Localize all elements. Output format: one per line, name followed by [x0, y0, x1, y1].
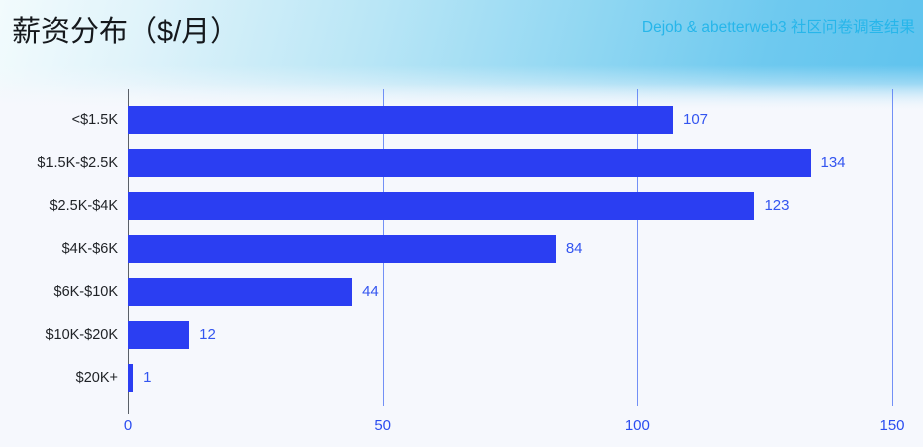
salary-distribution-chart: 薪资分布（$/月） Dejob & abetterweb3 社区问卷调查结果 <…	[0, 0, 923, 447]
bar[interactable]	[128, 364, 133, 392]
bar-value-label: 84	[566, 240, 583, 258]
category-label: $2.5K-$4K	[49, 197, 118, 215]
bar-value-label: 134	[821, 154, 846, 172]
bar-value-label: 1	[143, 369, 151, 387]
xtick-label-0: 0	[124, 417, 132, 435]
bar-value-label: 123	[764, 197, 789, 215]
bar[interactable]	[128, 149, 811, 177]
bar-value-label: 12	[199, 326, 216, 344]
category-axis-labels: <$1.5K$1.5K-$2.5K$2.5K-$4K$4K-$6K$6K-$10…	[0, 0, 118, 447]
category-label: $1.5K-$2.5K	[37, 154, 118, 172]
bar[interactable]	[128, 106, 673, 134]
bar[interactable]	[128, 192, 754, 220]
category-label: $10K-$20K	[45, 326, 118, 344]
bar[interactable]	[128, 321, 189, 349]
category-label: $4K-$6K	[62, 240, 118, 258]
plot-area: <$1.5K$1.5K-$2.5K$2.5K-$4K$4K-$6K$6K-$10…	[0, 0, 923, 447]
xtick-label-150: 150	[879, 417, 904, 435]
gridline-x-150	[892, 89, 893, 406]
bar[interactable]	[128, 278, 352, 306]
category-label: $20K+	[76, 369, 118, 387]
category-label: $6K-$10K	[54, 283, 119, 301]
category-label: <$1.5K	[72, 111, 118, 129]
xtick-label-100: 100	[625, 417, 650, 435]
xtick-label-50: 50	[374, 417, 391, 435]
bar-value-label: 107	[683, 111, 708, 129]
bar[interactable]	[128, 235, 556, 263]
gridline-x-100	[637, 89, 638, 406]
bar-value-label: 44	[362, 283, 379, 301]
